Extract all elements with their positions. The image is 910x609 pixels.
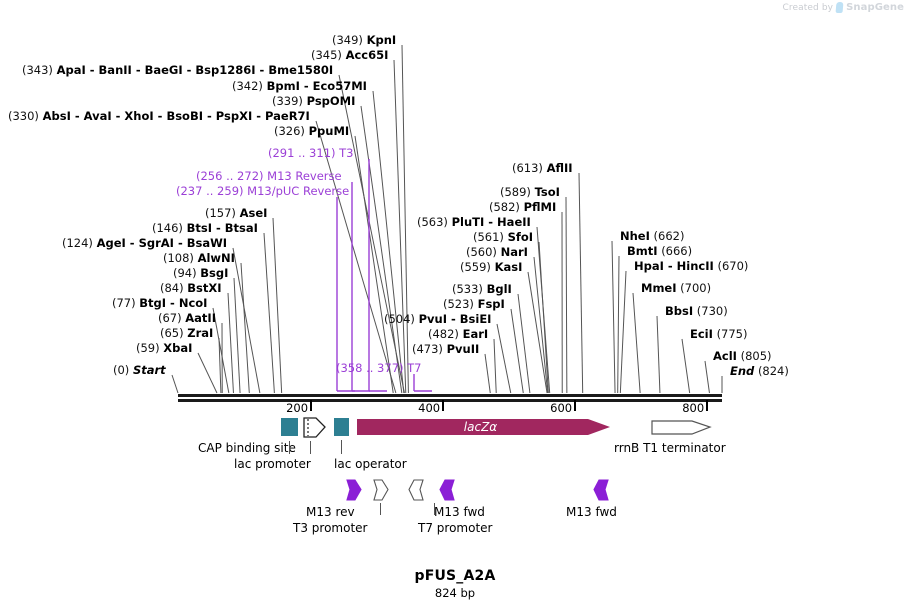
enzyme-label-acc65i[interactable]: (345) Acc65I (311, 49, 388, 62)
ruler-tick-label-600: 600 (546, 401, 572, 415)
enzyme-label-btgi[interactable]: (77) BtgI - NcoI (112, 297, 207, 310)
enzyme-name: AseI (240, 206, 268, 220)
enzyme-position: (339) (272, 94, 303, 108)
primer-arrow-label-m13-rev: M13 rev (306, 505, 355, 519)
enzyme-position: (157) (205, 206, 236, 220)
enzyme-position: (77) (112, 296, 136, 310)
enzyme-position: (343) (22, 63, 53, 77)
primer-label-t7[interactable]: (358 .. 377) T7 (336, 362, 422, 375)
enzyme-position: (559) (460, 260, 491, 274)
feature-label-lac-operator: lac operator (334, 457, 407, 471)
enzyme-name: Acc65I (346, 48, 389, 62)
enzyme-label-apai[interactable]: (343) ApaI - BanII - BaeGI - Bsp1286I - … (22, 64, 333, 77)
enzyme-label-nhei[interactable]: NheI (662) (620, 230, 684, 243)
enzyme-label-acli[interactable]: AclI (805) (713, 350, 772, 363)
feature-label-lacz-alpha: lacZα (464, 420, 498, 434)
enzyme-position: (504) (384, 312, 415, 326)
enzyme-name: BstXI (187, 281, 221, 295)
enzyme-position: (342) (232, 79, 263, 93)
primer-arrow-label-t3-promoter: T3 promoter (293, 521, 367, 535)
enzyme-label-agei[interactable]: (124) AgeI - SgrAI - BsaWI (62, 237, 227, 250)
enzyme-position: (523) (443, 297, 474, 311)
enzyme-label-aflii[interactable]: (613) AflII (512, 162, 573, 175)
enzyme-name: KpnI (367, 33, 397, 47)
enzyme-name: PflMI (524, 200, 557, 214)
enzyme-name: BtgI - NcoI (139, 296, 207, 310)
enzyme-name: AflII (547, 161, 573, 175)
enzyme-position: (805) (741, 349, 772, 363)
enzyme-position: (662) (654, 229, 685, 243)
enzyme-label-pvui[interactable]: (504) PvuI - BsiEI (384, 313, 491, 326)
enzyme-name: End (730, 364, 754, 378)
enzyme-position: (67) (158, 311, 182, 325)
enzyme-name: AgeI - SgrAI - BsaWI (97, 236, 227, 250)
enzyme-name: NheI (620, 229, 650, 243)
enzyme-position: (124) (62, 236, 93, 250)
enzyme-position: (330) (8, 109, 39, 123)
primer-arrow-label-t7-promoter: T7 promoter (418, 521, 492, 535)
enzyme-name: EciI (690, 327, 713, 341)
enzyme-name: BtsI - BtsaI (187, 221, 258, 235)
enzyme-label-absi[interactable]: (330) AbsI - AvaI - XhoI - BsoBI - PspXI… (8, 110, 310, 123)
primer-arrow-m13-fwd-2[interactable] (593, 479, 610, 502)
enzyme-name: ApaI - BanII - BaeGI - Bsp1286I - Bme158… (57, 63, 334, 77)
enzyme-name: ZraI (187, 326, 213, 340)
enzyme-label-ppumi[interactable]: (326) PpuMI (274, 125, 349, 138)
primer-arrow-m13-fwd-1[interactable] (439, 479, 456, 502)
enzyme-position: (146) (152, 221, 183, 235)
enzyme-label-pluti[interactable]: (563) PluTI - HaeII (417, 216, 531, 229)
enzyme-position: (349) (332, 33, 363, 47)
enzyme-position: (65) (160, 326, 184, 340)
enzyme-name: XbaI (163, 341, 192, 355)
enzyme-position: (775) (717, 327, 748, 341)
enzyme-name: TsoI (535, 185, 560, 199)
enzyme-name: MmeI (641, 281, 677, 295)
ruler-tick-label-400: 400 (414, 401, 440, 415)
backbone-strand-top (178, 394, 722, 397)
enzyme-position: (561) (473, 230, 504, 244)
feature-tick-lac-operator (341, 440, 342, 454)
ruler-tick-label-800: 800 (678, 401, 704, 415)
enzyme-label-end[interactable]: End (824) (730, 365, 789, 378)
enzyme-label-ecii[interactable]: EciI (775) (690, 328, 748, 341)
enzyme-position: (563) (417, 215, 448, 229)
primer-label-t3[interactable]: (291 .. 311) T3 (268, 147, 354, 160)
feature-rrnb-t1-terminator[interactable] (651, 417, 712, 439)
ruler-tick-mark-200 (310, 400, 312, 411)
enzyme-position: (613) (512, 161, 543, 175)
feature-tick-cap-binding-site (289, 441, 290, 454)
enzyme-label-mmei[interactable]: MmeI (700) (641, 282, 711, 295)
feature-lacz-alpha[interactable]: lacZα (357, 417, 612, 439)
enzyme-position: (582) (489, 200, 520, 214)
enzyme-position: (730) (697, 304, 728, 318)
enzyme-position: (589) (500, 185, 531, 199)
feature-cap-binding-site[interactable] (281, 418, 298, 436)
primer-arrow-t3-promoter[interactable] (373, 479, 390, 502)
enzyme-position: (560) (466, 245, 497, 259)
enzyme-name: BglI (487, 282, 512, 296)
ruler-tick-mark-400 (442, 400, 444, 411)
ruler-tick-label-200: 200 (282, 401, 308, 415)
feature-label-rrnb-t1-terminator: rrnB T1 terminator (614, 441, 726, 455)
enzyme-label-bpmi[interactable]: (342) BpmI - Eco57MI (232, 80, 367, 93)
enzyme-name: EarI (463, 327, 489, 341)
enzyme-label-xbai[interactable]: (59) XbaI (136, 342, 192, 355)
enzyme-label-sfoi[interactable]: (561) SfoI (473, 231, 533, 244)
enzyme-position: (59) (136, 341, 160, 355)
enzyme-position: (345) (311, 48, 342, 62)
plasmid-map-canvas: Created by SnapGene (349) KpnI(345) Acc6… (0, 0, 910, 609)
enzyme-position: (666) (661, 244, 692, 258)
enzyme-name: KasI (495, 260, 523, 274)
enzyme-label-zrai[interactable]: (65) ZraI (160, 327, 213, 340)
enzyme-name: HpaI - HincII (634, 259, 714, 273)
feature-lac-promoter[interactable] (303, 417, 327, 439)
enzyme-label-tsoi[interactable]: (589) TsoI (500, 186, 560, 199)
enzyme-name: BsgI (200, 266, 228, 280)
enzyme-position: (700) (680, 281, 711, 295)
primer-label-m13-puc-reverse[interactable]: (237 .. 259) M13/pUC Reverse (176, 185, 349, 198)
enzyme-position: (482) (428, 327, 459, 341)
enzyme-position: (670) (717, 259, 748, 273)
enzyme-label-pspomi[interactable]: (339) PspOMI (272, 95, 355, 108)
enzyme-position: (533) (452, 282, 483, 296)
feature-lac-operator[interactable] (334, 418, 349, 436)
enzyme-label-pvuii[interactable]: (473) PvuII (412, 343, 479, 356)
enzyme-label-bbsi[interactable]: BbsI (730) (665, 305, 728, 318)
enzyme-label-bgli[interactable]: (533) BglI (452, 283, 512, 296)
primer-arrow-label-m13-fwd-2: M13 fwd (566, 505, 617, 519)
enzyme-label-bmti[interactable]: BmtI (666) (627, 245, 692, 258)
ruler-tick-mark-800 (706, 400, 708, 411)
enzyme-label-start[interactable]: (0) Start (113, 364, 166, 377)
enzyme-name: AclI (713, 349, 737, 363)
plasmid-name: pFUS_A2A (0, 568, 910, 584)
enzyme-label-kasi[interactable]: (559) KasI (460, 261, 522, 274)
enzyme-label-kpni[interactable]: (349) KpnI (332, 34, 396, 47)
enzyme-label-bstxi[interactable]: (84) BstXI (160, 282, 222, 295)
backbone-strand-bottom (178, 399, 722, 402)
enzyme-name: NarI (501, 245, 528, 259)
enzyme-name: BbsI (665, 304, 693, 318)
enzyme-name: SfoI (508, 230, 533, 244)
enzyme-position: (326) (274, 124, 305, 138)
enzyme-position: (824) (758, 364, 789, 378)
enzyme-name: BpmI - Eco57MI (267, 79, 367, 93)
enzyme-position: (0) (113, 363, 129, 377)
enzyme-name: PluTI - HaeII (452, 215, 531, 229)
feature-tick-lac-promoter (310, 441, 311, 454)
enzyme-label-btsi[interactable]: (146) BtsI - BtsaI (152, 222, 258, 235)
enzyme-name: AbsI - AvaI - XhoI - BsoBI - PspXI - Pae… (43, 109, 310, 123)
enzyme-label-aatii[interactable]: (67) AatII (158, 312, 216, 325)
primer-arrow-t7-promoter[interactable] (408, 479, 425, 502)
enzyme-name: AlwNI (198, 251, 235, 265)
plasmid-size: 824 bp (0, 586, 910, 600)
primer-tick-t3-promoter (380, 503, 381, 515)
enzyme-name: PvuII (447, 342, 480, 356)
enzyme-position: (473) (412, 342, 443, 356)
primer-label-m13-reverse[interactable]: (256 .. 272) M13 Reverse (196, 170, 342, 183)
enzyme-label-bsgi[interactable]: (94) BsgI (173, 267, 228, 280)
enzyme-label-pflmi[interactable]: (582) PflMI (489, 201, 556, 214)
ruler-tick-mark-600 (574, 400, 576, 411)
feature-label-cap-binding-site: CAP binding site (198, 441, 296, 455)
enzyme-name: BmtI (627, 244, 658, 258)
enzyme-label-asei[interactable]: (157) AseI (205, 207, 267, 220)
enzyme-label-eari[interactable]: (482) EarI (428, 328, 488, 341)
enzyme-name: PspOMI (307, 94, 356, 108)
enzyme-position: (108) (163, 251, 194, 265)
enzyme-position: (94) (173, 266, 197, 280)
enzyme-name: PpuMI (309, 124, 350, 138)
enzyme-label-alwni[interactable]: (108) AlwNI (163, 252, 235, 265)
enzyme-name: Start (133, 363, 166, 377)
enzyme-label-fspi[interactable]: (523) FspI (443, 298, 505, 311)
primer-arrow-label-m13-fwd-1: M13 fwd (434, 505, 485, 519)
enzyme-label-hpai[interactable]: HpaI - HincII (670) (634, 260, 748, 273)
enzyme-name: FspI (478, 297, 505, 311)
feature-label-lac-promoter: lac promoter (234, 457, 311, 471)
enzyme-label-nari[interactable]: (560) NarI (466, 246, 528, 259)
enzyme-name: AatII (185, 311, 216, 325)
enzyme-name: PvuI - BsiEI (419, 312, 492, 326)
enzyme-position: (84) (160, 281, 184, 295)
primer-arrow-m13-rev[interactable] (346, 479, 363, 502)
